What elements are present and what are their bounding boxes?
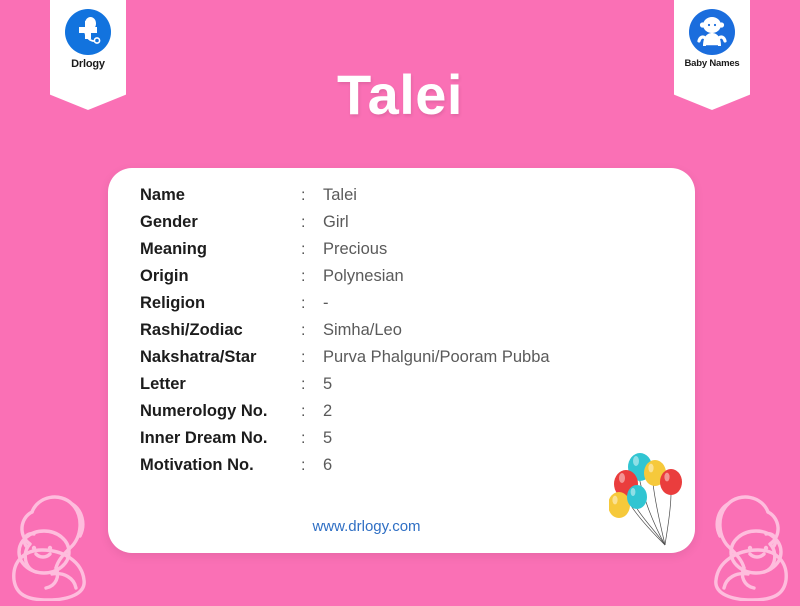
detail-row-separator: : xyxy=(301,295,323,313)
detail-row-label: Gender xyxy=(140,213,301,232)
detail-row: Religion:- xyxy=(140,294,677,321)
detail-rows: Name:TaleiGender:GirlMeaning:PreciousOri… xyxy=(140,186,677,483)
detail-row-value: 6 xyxy=(323,456,332,475)
detail-row-value: 2 xyxy=(323,402,332,421)
watermark-mother-baby-right xyxy=(698,476,800,606)
detail-row: Origin:Polynesian xyxy=(140,267,677,294)
detail-row-separator: : xyxy=(301,187,323,205)
detail-row-separator: : xyxy=(301,268,323,286)
watermark-mother-baby-left xyxy=(0,476,102,606)
name-details-card: Name:TaleiGender:GirlMeaning:PreciousOri… xyxy=(108,168,695,553)
detail-row: Name:Talei xyxy=(140,186,677,213)
detail-row-label: Rashi/Zodiac xyxy=(140,321,301,340)
detail-row: Gender:Girl xyxy=(140,213,677,240)
detail-row-value: Purva Phalguni/Pooram Pubba xyxy=(323,348,550,367)
detail-row: Motivation No.:6 xyxy=(140,456,677,483)
detail-row-value: 5 xyxy=(323,375,332,394)
detail-row: Nakshatra/Star:Purva Phalguni/Pooram Pub… xyxy=(140,348,677,375)
detail-row-label: Religion xyxy=(140,294,301,313)
detail-row-separator: : xyxy=(301,457,323,475)
detail-row-value: Precious xyxy=(323,240,387,259)
detail-row-value: Talei xyxy=(323,186,357,205)
detail-row-label: Meaning xyxy=(140,240,301,259)
detail-row-label: Motivation No. xyxy=(140,456,301,475)
detail-row-label: Nakshatra/Star xyxy=(140,348,301,367)
detail-row: Numerology No.:2 xyxy=(140,402,677,429)
detail-row-separator: : xyxy=(301,376,323,394)
detail-row-label: Name xyxy=(140,186,301,205)
detail-row: Rashi/Zodiac:Simha/Leo xyxy=(140,321,677,348)
detail-row-separator: : xyxy=(301,403,323,421)
detail-row-separator: : xyxy=(301,322,323,340)
detail-row: Meaning:Precious xyxy=(140,240,677,267)
detail-row-value: Polynesian xyxy=(323,267,404,286)
detail-row-value: Simha/Leo xyxy=(323,321,402,340)
detail-row-value: 5 xyxy=(323,429,332,448)
page-title: Talei xyxy=(0,62,800,127)
detail-row-label: Letter xyxy=(140,375,301,394)
detail-row-label: Origin xyxy=(140,267,301,286)
detail-row-value: - xyxy=(323,294,329,313)
detail-row-separator: : xyxy=(301,214,323,232)
detail-row-label: Numerology No. xyxy=(140,402,301,421)
drlogy-logo-icon xyxy=(65,9,111,55)
detail-row-separator: : xyxy=(301,241,323,259)
baby-icon xyxy=(689,9,735,55)
detail-row-separator: : xyxy=(301,349,323,367)
detail-row: Letter:5 xyxy=(140,375,677,402)
detail-row: Inner Dream No.:5 xyxy=(140,429,677,456)
detail-row-label: Inner Dream No. xyxy=(140,429,301,448)
detail-row-value: Girl xyxy=(323,213,349,232)
detail-row-separator: : xyxy=(301,430,323,448)
website-url[interactable]: www.drlogy.com xyxy=(108,518,695,535)
